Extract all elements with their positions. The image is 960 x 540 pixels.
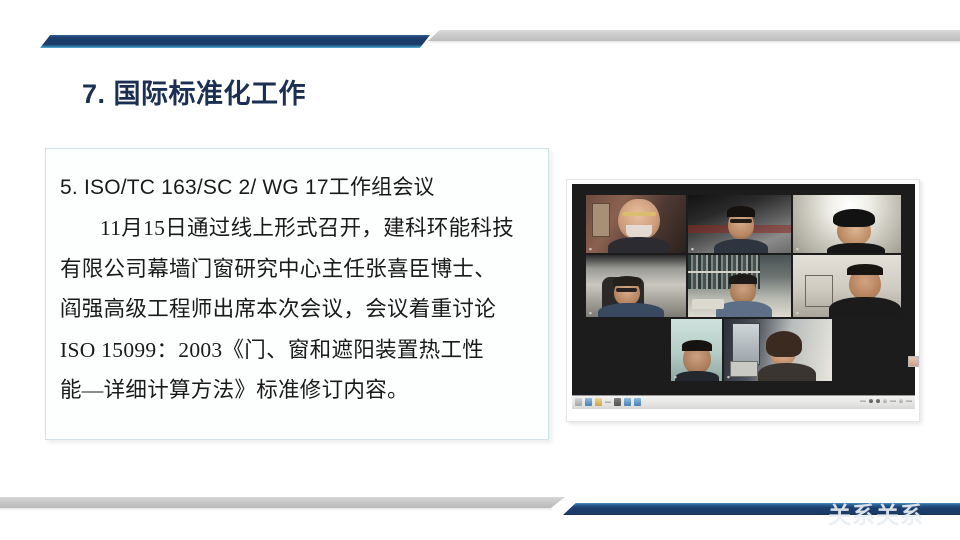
minus-icon[interactable]	[605, 401, 611, 403]
participant-hair	[682, 340, 712, 351]
participant-glasses	[730, 219, 752, 223]
participant-body	[829, 297, 901, 317]
card-heading: 5. ISO/TC 163/SC 2/ WG 17工作组会议	[60, 177, 534, 198]
tile-name-label: ●	[589, 311, 592, 315]
video-tile-participant[interactable]: ●	[793, 195, 901, 253]
participant-glasses	[622, 212, 656, 216]
video-grid: ● ● ●	[582, 193, 905, 383]
video-tile-participant[interactable]: ●	[688, 195, 791, 253]
header-accent-bar-gray-shadow	[430, 41, 960, 44]
participant-hair	[613, 276, 641, 286]
zoom-out-icon[interactable]	[860, 400, 866, 402]
app-toolbar[interactable]	[572, 395, 915, 409]
home-icon[interactable]	[585, 398, 592, 406]
card-paragraph-line: 有限公司幕墙门窗研究中心主任张喜臣博士、	[60, 259, 534, 281]
dash-icon[interactable]	[890, 400, 896, 402]
video-tile-participant[interactable]: ●	[671, 319, 722, 381]
tile-laptop	[730, 361, 758, 377]
participant-body	[716, 301, 772, 317]
globe-icon[interactable]	[624, 398, 631, 406]
tile-window	[732, 323, 760, 365]
tile-bookshelf-rail	[688, 271, 760, 273]
card-paragraph-line: 11月15日通过线上形式召开，建科环能科技	[60, 218, 534, 240]
tile-name-label: ●	[691, 311, 694, 315]
video-tile-participant[interactable]: ●	[586, 195, 686, 253]
header-accent-bar-gray	[428, 30, 960, 41]
participant-body	[608, 237, 670, 253]
participant-hair	[847, 264, 883, 275]
participant-glasses	[616, 288, 637, 292]
card-paragraph-line: ISO 15099：2003《门、窗和遮阳装置热工性	[60, 340, 534, 362]
participant-body	[675, 371, 719, 381]
toolbar-left-group[interactable]	[575, 398, 641, 406]
tile-name-label: ●	[691, 247, 694, 251]
participant-hair	[729, 274, 757, 284]
header-accent-bar-blue	[40, 35, 430, 48]
video-tile-participant[interactable]: ●	[724, 319, 832, 381]
participant-body	[827, 243, 885, 253]
tile-name-label: ●	[674, 375, 677, 379]
footer-accent-bar-gray-shadow	[0, 508, 552, 511]
video-tile-participant[interactable]: ●	[586, 255, 686, 317]
back-icon[interactable]	[575, 398, 582, 406]
tile-name-label: ●	[589, 247, 592, 251]
screen-edge-chip	[908, 356, 919, 367]
resize-icon[interactable]	[899, 399, 903, 403]
camera-icon[interactable]	[876, 399, 880, 403]
menu-icon[interactable]	[906, 400, 912, 402]
toolbar-right-group[interactable]	[860, 399, 912, 403]
page-title: 7. 国际标准化工作	[82, 72, 306, 111]
participant-hair	[833, 209, 875, 227]
footer-accent-bar-gray	[0, 497, 565, 508]
footer-watermark: 关系关系	[828, 500, 960, 530]
content-card: 5. ISO/TC 163/SC 2/ WG 17工作组会议 11月15日通过线…	[45, 148, 549, 440]
record-icon[interactable]	[869, 399, 873, 403]
card-paragraph-line: 阎强高级工程师出席本次会议，会议着重讨论	[60, 299, 534, 321]
participant-body	[598, 303, 664, 317]
video-tile-participant[interactable]: ●	[793, 255, 901, 317]
participant-hair	[766, 331, 802, 357]
save-icon[interactable]	[634, 398, 641, 406]
tile-name-label: ●	[796, 247, 799, 251]
participant-hair	[727, 206, 755, 217]
tile-name-label: ●	[727, 375, 730, 379]
video-grid-stage: ● ● ●	[572, 184, 915, 395]
slide-canvas: 7. 国际标准化工作 5. ISO/TC 163/SC 2/ WG 17工作组会…	[0, 0, 960, 540]
dots-icon[interactable]	[883, 399, 887, 403]
refresh-icon[interactable]	[595, 398, 602, 406]
tile-desk-object	[692, 299, 724, 309]
tile-name-label: ●	[796, 311, 799, 315]
document-icon[interactable]	[614, 398, 621, 406]
participant-body	[714, 239, 768, 253]
card-paragraph-line: 能—详细计算方法》标准修订内容。	[60, 380, 534, 402]
tile-wall-frame	[592, 203, 610, 237]
video-tile-participant[interactable]: ●	[688, 255, 791, 317]
participant-body	[758, 363, 816, 381]
tile-chair	[805, 275, 833, 307]
video-conference-screenshot: ● ● ●	[566, 179, 920, 422]
